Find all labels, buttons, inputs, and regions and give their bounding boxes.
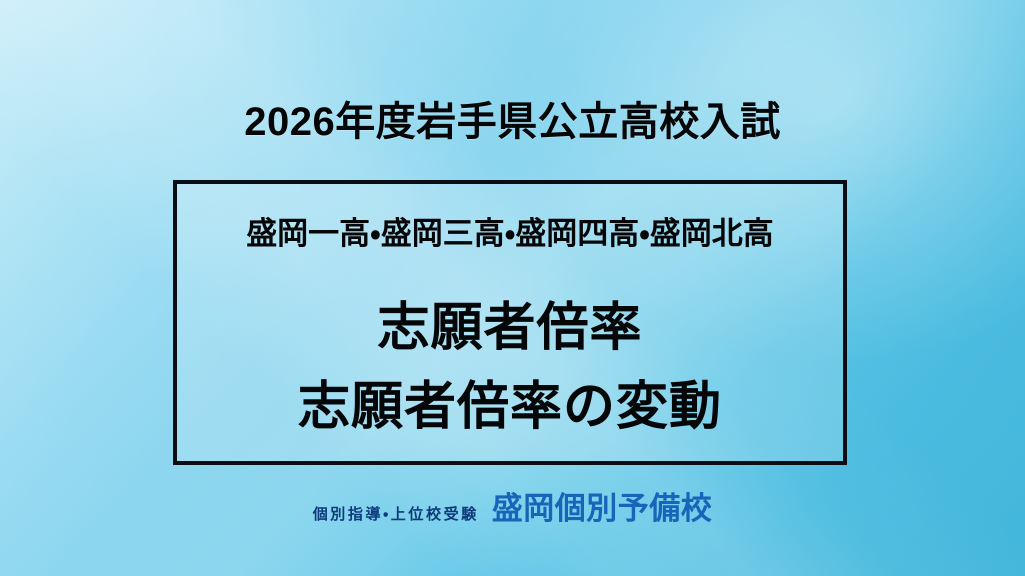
footer-brand-name: 盛岡個別予備校 bbox=[492, 483, 713, 528]
slide-root: 2026年度岩手県公立高校入試 盛岡一高・盛岡三高・盛岡四高・盛岡北高 志願者倍… bbox=[0, 0, 1025, 576]
footer-tagline: 個別指導・上位校受験 bbox=[313, 503, 479, 524]
page-title: 2026年度岩手県公立高校入試 bbox=[0, 99, 1025, 145]
content-frame-inner: 盛岡一高・盛岡三高・盛岡四高・盛岡北高 志願者倍率 志願者倍率の変動 bbox=[177, 184, 843, 461]
footer-brand-lockup: 個別指導・上位校受験 盛岡個別予備校 bbox=[0, 483, 1025, 528]
school-list: 盛岡一高・盛岡三高・盛岡四高・盛岡北高 bbox=[177, 208, 843, 253]
headline-applicant-ratio: 志願者倍率 bbox=[177, 285, 843, 360]
content-frame: 盛岡一高・盛岡三高・盛岡四高・盛岡北高 志願者倍率 志願者倍率の変動 bbox=[173, 180, 847, 465]
headline-applicant-ratio-change: 志願者倍率の変動 bbox=[177, 364, 843, 439]
